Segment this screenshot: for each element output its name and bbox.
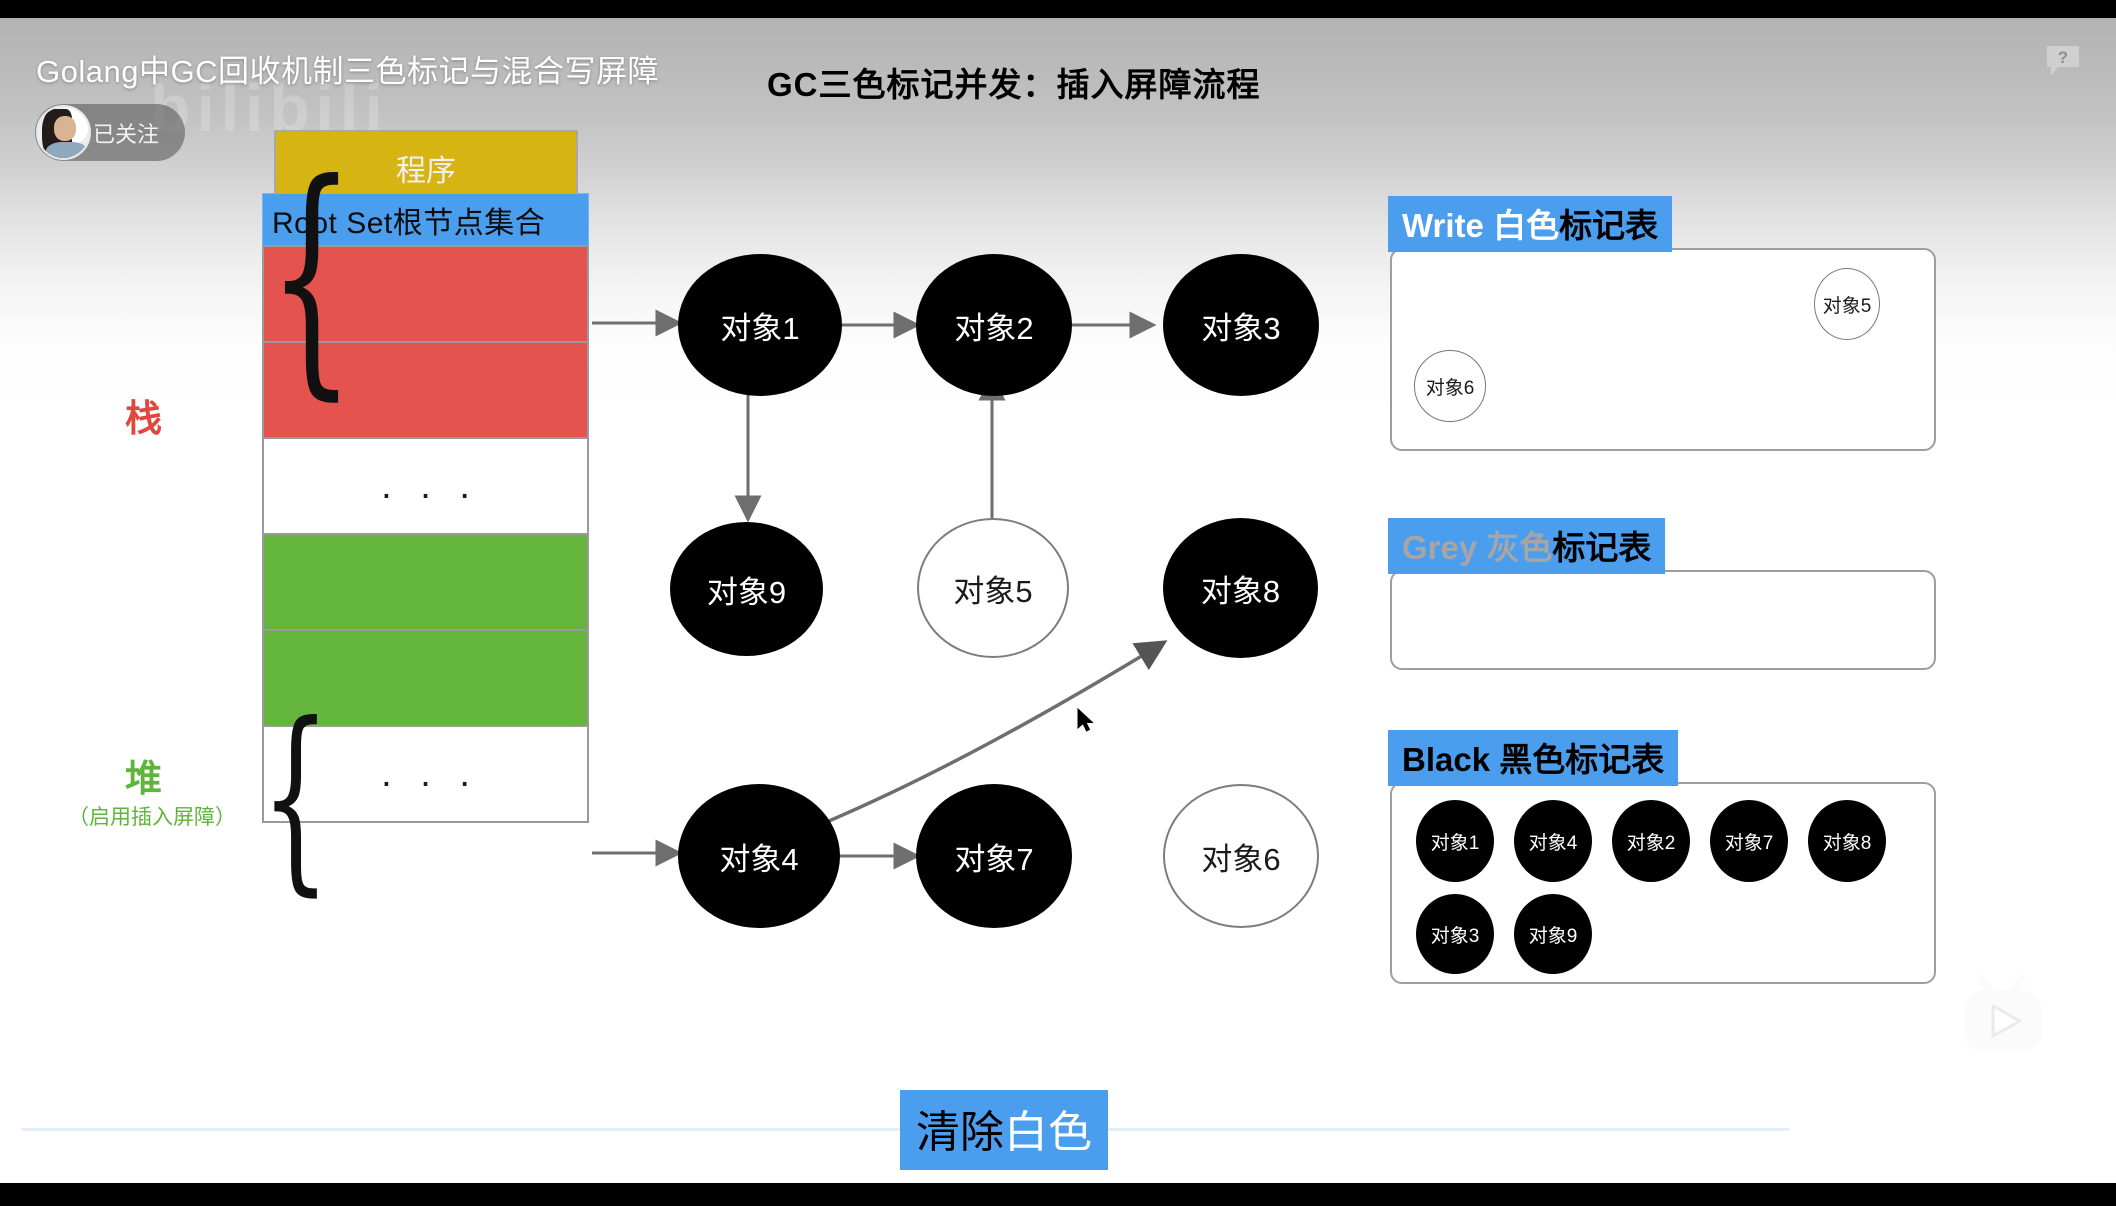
bilibili-tv-logo-svg <box>1948 970 2058 1070</box>
help-question-icon-svg: ? <box>2044 44 2082 78</box>
heap-sublabel: （启用插入屏障） <box>68 801 236 831</box>
graph-node-o9-label: 对象9 <box>707 567 786 612</box>
black-mark-chip-o1-label: 对象1 <box>1431 828 1480 855</box>
graph-node-o2: 对象2 <box>916 254 1072 396</box>
heap-label: 堆 <box>125 748 162 802</box>
black-mark-chip-o7: 对象7 <box>1710 800 1788 882</box>
white-mark-table-body: 对象5 对象6 <box>1390 248 1936 451</box>
black-mark-chip-o9-label: 对象9 <box>1529 921 1578 948</box>
white-mark-chip-o5: 对象5 <box>1814 268 1880 340</box>
svg-text:?: ? <box>2058 48 2068 67</box>
graph-node-o5-label: 对象5 <box>953 566 1032 611</box>
white-mark-table-header: Write 白色标记表 <box>1388 196 1672 252</box>
white-mark-table-title-cn: 标记表 <box>1559 207 1658 244</box>
black-mark-chip-o1: 对象1 <box>1416 800 1494 882</box>
clear-white-banner: 清除白色 <box>900 1090 1108 1170</box>
white-mark-chip-o6: 对象6 <box>1414 350 1486 422</box>
white-mark-chip-o5-label: 对象5 <box>1823 291 1872 318</box>
slide-canvas: bilibili Golang中GC回收机制三色标记与混合写屏障 已关注 ? <box>0 18 2116 1183</box>
bilibili-tv-logo <box>1948 970 2058 1070</box>
graph-node-o8-label: 对象8 <box>1201 566 1280 611</box>
graph-node-o7-label: 对象7 <box>954 834 1033 879</box>
graph-node-o3: 对象3 <box>1163 254 1319 396</box>
memory-block-gap-1: . . . <box>262 437 589 535</box>
black-mark-chip-o8: 对象8 <box>1808 800 1886 882</box>
black-mark-table-panel: Black 黑色标记表 对象1 对象4 对象2 对象7 对象8 <box>1388 730 1938 1005</box>
white-mark-table-title-en: Write <box>1402 207 1484 244</box>
avatar[interactable] <box>36 105 91 160</box>
graph-node-o6: 对象6 <box>1163 784 1319 928</box>
black-mark-table-header: Black 黑色标记表 <box>1388 730 1678 786</box>
black-mark-table-title-cn: 标记表 <box>1565 741 1664 778</box>
graph-node-o1-label: 对象1 <box>720 303 799 348</box>
grey-mark-table-title-cn-color: 灰色 <box>1477 529 1552 566</box>
black-mark-chip-o3: 对象3 <box>1416 894 1494 974</box>
grey-mark-table-panel: Grey 灰色标记表 <box>1388 518 1938 693</box>
mouse-cursor-svg <box>1077 708 1097 736</box>
grey-mark-table-header: Grey 灰色标记表 <box>1388 518 1665 574</box>
avatar-body <box>46 142 88 160</box>
mouse-cursor <box>1077 708 1097 741</box>
graph-node-o3-label: 对象3 <box>1201 303 1280 348</box>
black-mark-chip-o9: 对象9 <box>1514 894 1592 974</box>
memory-block-ellipsis-1: . . . <box>372 467 479 505</box>
graph-node-o7: 对象7 <box>916 784 1072 928</box>
black-mark-chip-o3-label: 对象3 <box>1431 921 1480 948</box>
follow-button-label: 已关注 <box>93 117 159 149</box>
graph-node-o1: 对象1 <box>678 254 842 396</box>
black-mark-chip-o7-label: 对象7 <box>1725 828 1774 855</box>
slide-title: GC三色标记并发：插入屏障流程 <box>767 58 1261 106</box>
memory-block-heap-1 <box>262 533 589 631</box>
stack-label: 栈 <box>125 388 162 442</box>
black-mark-table-body: 对象1 对象4 对象2 对象7 对象8 对象3 对象9 <box>1390 782 1936 984</box>
graph-node-o6-label: 对象6 <box>1201 834 1280 879</box>
white-mark-chip-o6-label: 对象6 <box>1426 373 1475 400</box>
black-mark-chip-o2-label: 对象2 <box>1627 828 1676 855</box>
graph-node-o8: 对象8 <box>1163 518 1318 658</box>
graph-node-o2-label: 对象2 <box>954 303 1033 348</box>
grey-mark-table-title-cn: 标记表 <box>1552 529 1651 566</box>
black-mark-chip-o2: 对象2 <box>1612 800 1690 882</box>
white-mark-table-panel: Write 白色标记表 对象5 对象6 <box>1388 196 1938 456</box>
memory-block-ellipsis-2: . . . <box>372 755 479 793</box>
black-mark-chip-o8-label: 对象8 <box>1823 828 1872 855</box>
graph-node-o5: 对象5 <box>917 518 1069 658</box>
avatar-face <box>54 116 76 141</box>
graph-node-o9: 对象9 <box>670 522 823 656</box>
clear-white-banner-suffix: 白色 <box>1004 1108 1092 1157</box>
graph-node-o4-label: 对象4 <box>719 834 798 879</box>
black-mark-chip-o4: 对象4 <box>1514 800 1592 882</box>
clear-white-banner-prefix: 清除 <box>916 1108 1004 1157</box>
program-box-label: 程序 <box>396 146 456 190</box>
help-question-icon[interactable]: ? <box>2044 44 2082 78</box>
video-title: Golang中GC回收机制三色标记与混合写屏障 <box>36 46 659 91</box>
black-mark-chip-o4-label: 对象4 <box>1529 828 1578 855</box>
graph-node-o4: 对象4 <box>678 784 840 928</box>
white-mark-table-title-cn-color: 白色 <box>1484 207 1559 244</box>
grey-mark-table-body <box>1390 570 1936 670</box>
screen: bilibili Golang中GC回收机制三色标记与混合写屏障 已关注 ? <box>0 0 2116 1206</box>
black-mark-table-title-cn-color: 黑色 <box>1490 741 1565 778</box>
grey-mark-table-title-en: Grey <box>1402 529 1477 566</box>
black-mark-table-title-en: Black <box>1402 741 1490 778</box>
